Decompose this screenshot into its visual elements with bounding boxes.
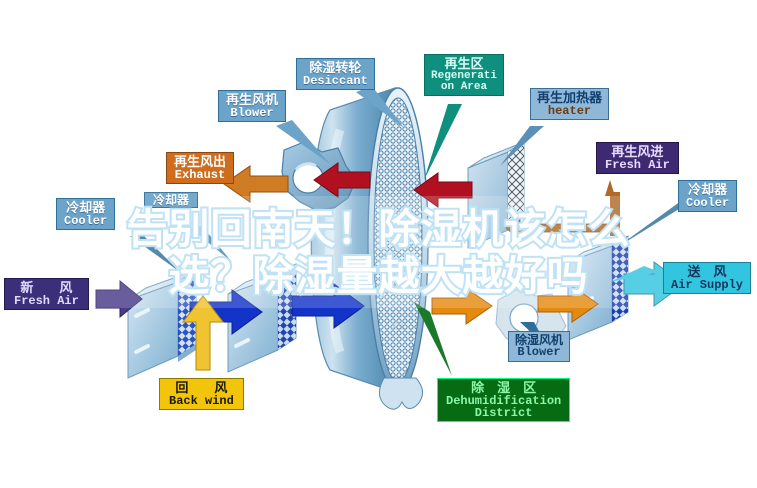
label-desiccant-en: Desiccant [303, 75, 368, 87]
label-cooler-left-1-en: Cooler [64, 215, 107, 227]
label-regen-area-en2: on Area [431, 82, 497, 93]
leader-regen-area [424, 104, 462, 180]
label-regeneration-fresh-air: 再生风进 Fresh Air [596, 142, 679, 174]
label-air-supply: 送 风 Air Supply [663, 262, 751, 294]
label-cooler-left-1-cn: 冷却器 [64, 201, 107, 215]
label-cooler-right-en: Cooler [686, 197, 729, 209]
label-regeneration-heater: 再生加热器 heater [530, 88, 609, 120]
label-cooler-left-2-cn: 冷却器 [153, 194, 189, 206]
label-dehum-district-cn: 除 湿 区 [446, 381, 561, 395]
schematic-artwork: XT [0, 0, 757, 488]
label-dehum-blower-en: Blower [515, 346, 563, 358]
label-regen-blower-en: Blower [226, 107, 278, 119]
label-cooler-right-cn: 冷却器 [686, 183, 729, 197]
label-regen-heater-cn: 再生加热器 [537, 91, 602, 105]
label-regen-fresh-air-cn: 再生风进 [605, 145, 670, 159]
label-fresh-air-en: Fresh Air [14, 295, 79, 307]
label-dehumidification-district: 除 湿 区 Dehumidification District [437, 378, 570, 422]
label-air-supply-en: Air Supply [671, 279, 743, 291]
label-exhaust-en: Exhaust [174, 169, 226, 181]
label-dehumidification-blower: 除湿风机 Blower [508, 331, 570, 362]
label-fresh-air: 新 风 Fresh Air [4, 278, 89, 310]
label-cooler-right: 冷却器 Cooler [678, 180, 737, 212]
label-back-wind-en: Back wind [169, 395, 234, 407]
label-fresh-air-cn: 新 风 [14, 281, 79, 295]
label-desiccant-cn: 除湿转轮 [303, 61, 368, 75]
label-back-wind: 回 风 Back wind [159, 378, 244, 410]
label-back-wind-cn: 回 风 [169, 381, 234, 395]
label-cooler-left-2: 冷却器 [144, 192, 198, 208]
label-desiccant: 除湿转轮 Desiccant [296, 58, 375, 90]
label-cooler-left-1: 冷却器 Cooler [56, 198, 115, 230]
label-regeneration-area: 再生区 Regenerati on Area [424, 54, 504, 96]
label-exhaust: 再生风出 Exhaust [166, 152, 234, 184]
label-exhaust-cn: 再生风出 [174, 155, 226, 169]
label-regeneration-blower: 再生风机 Blower [218, 90, 286, 122]
label-dehum-district-en2: District [446, 407, 561, 419]
svg-text:XT: XT [390, 319, 406, 333]
dehumidifier-diagram: XT [0, 0, 757, 488]
label-regen-blower-cn: 再生风机 [226, 93, 278, 107]
label-regen-fresh-air-en: Fresh Air [605, 159, 670, 171]
label-air-supply-cn: 送 风 [671, 265, 743, 279]
label-regen-heater-en: heater [537, 105, 602, 117]
label-regen-area-cn: 再生区 [431, 57, 497, 71]
